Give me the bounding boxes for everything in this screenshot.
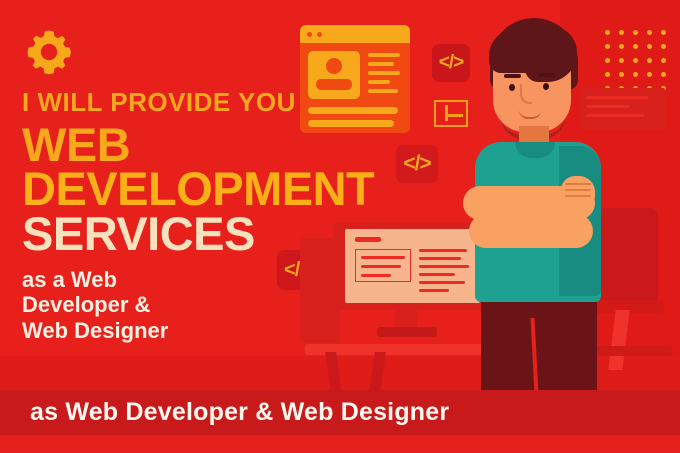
bottom-strip (0, 435, 680, 453)
gear-icon (25, 28, 73, 76)
headline-services: SERVICES (22, 212, 352, 257)
screen-text-lines (419, 249, 469, 297)
male-developer-illustration (463, 18, 613, 393)
code-badge-icon-2: </> (396, 145, 438, 183)
monitor-screen (345, 229, 480, 303)
subtitle-line-2: Developer & (22, 292, 352, 318)
eyebrow-left (504, 74, 521, 78)
browser-title-bar (300, 25, 410, 43)
monitor-foot (377, 327, 437, 337)
headline-eyebrow: I WILL PROVIDE YOU (22, 88, 352, 117)
dot-grid-icon (605, 30, 671, 96)
headline-web: WEB (22, 123, 352, 168)
hand (561, 176, 595, 206)
eye-left (509, 84, 515, 91)
eye-right (543, 83, 549, 90)
banner-text: as Web Developer & Web Designer (30, 398, 449, 427)
browser-text-lines-right (368, 53, 400, 98)
subtitle-line-3: Web Designer (22, 318, 352, 344)
screen-content-box (355, 249, 411, 282)
headline-block: I WILL PROVIDE YOU WEB DEVELOPMENT SERVI… (22, 88, 352, 344)
subtitle-block: as a Web Developer & Web Designer (22, 267, 352, 345)
browser-content (300, 43, 410, 59)
poster-canvas: </> </> </> (0, 0, 680, 453)
subtitle-line-1: as a Web (22, 267, 352, 293)
eyebrow-right (538, 73, 555, 77)
headline-development: DEVELOPMENT (22, 167, 352, 212)
bottom-banner: as Web Developer & Web Designer (0, 390, 680, 435)
arm-lower (469, 214, 593, 248)
